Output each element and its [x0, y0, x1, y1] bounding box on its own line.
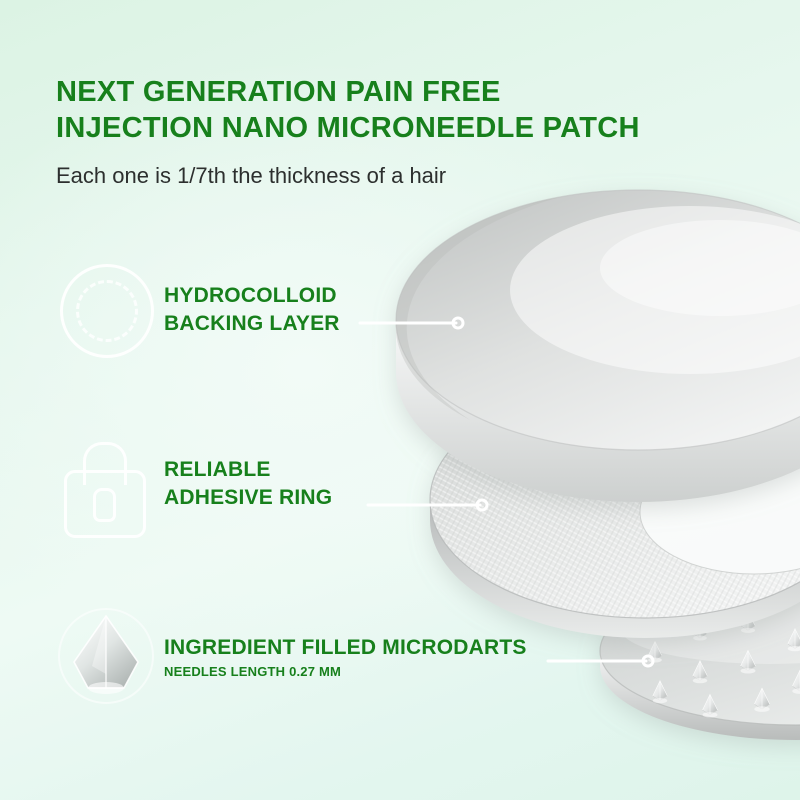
- padlock-icon: [54, 432, 158, 536]
- feature-label-line-1: HYDROCOLLOID: [164, 282, 340, 310]
- feature-reliable-adhesive-ring: RELIABLE ADHESIVE RING: [54, 432, 332, 536]
- microdart-base-disc: [600, 577, 800, 740]
- feature-text: RELIABLE ADHESIVE RING: [164, 456, 332, 512]
- microdart-cone-icon: [54, 604, 158, 708]
- feature-hydrocolloid-backing-layer: HYDROCOLLOID BACKING LAYER: [54, 258, 340, 362]
- page-subtitle: Each one is 1/7th the thickness of a hai…: [56, 163, 446, 189]
- infographic-page: NEXT GENERATION PAIN FREE INJECTION NANO…: [0, 0, 800, 800]
- feature-sublabel: NEEDLES LENGTH 0.27 MM: [164, 664, 527, 679]
- feature-label-line-1: INGREDIENT FILLED MICRODARTS: [164, 634, 527, 662]
- feature-ingredient-filled-microdarts: INGREDIENT FILLED MICRODARTS NEEDLES LEN…: [54, 604, 527, 708]
- hydrocolloid-backing-disc: [396, 190, 800, 502]
- dotted-circle-icon: [54, 258, 158, 362]
- page-title: NEXT GENERATION PAIN FREE INJECTION NANO…: [56, 74, 656, 146]
- feature-text: INGREDIENT FILLED MICRODARTS NEEDLES LEN…: [164, 634, 527, 679]
- feature-label-line-2: ADHESIVE RING: [164, 484, 332, 512]
- headline-line-1: NEXT GENERATION PAIN FREE: [56, 74, 656, 110]
- feature-label-line-2: BACKING LAYER: [164, 310, 340, 338]
- adhesive-ring-layer: [430, 382, 800, 638]
- microdart-array: [648, 598, 800, 717]
- headline-line-2: INJECTION NANO MICRONEEDLE PATCH: [56, 110, 656, 146]
- feature-text: HYDROCOLLOID BACKING LAYER: [164, 282, 340, 338]
- feature-label-line-1: RELIABLE: [164, 456, 332, 484]
